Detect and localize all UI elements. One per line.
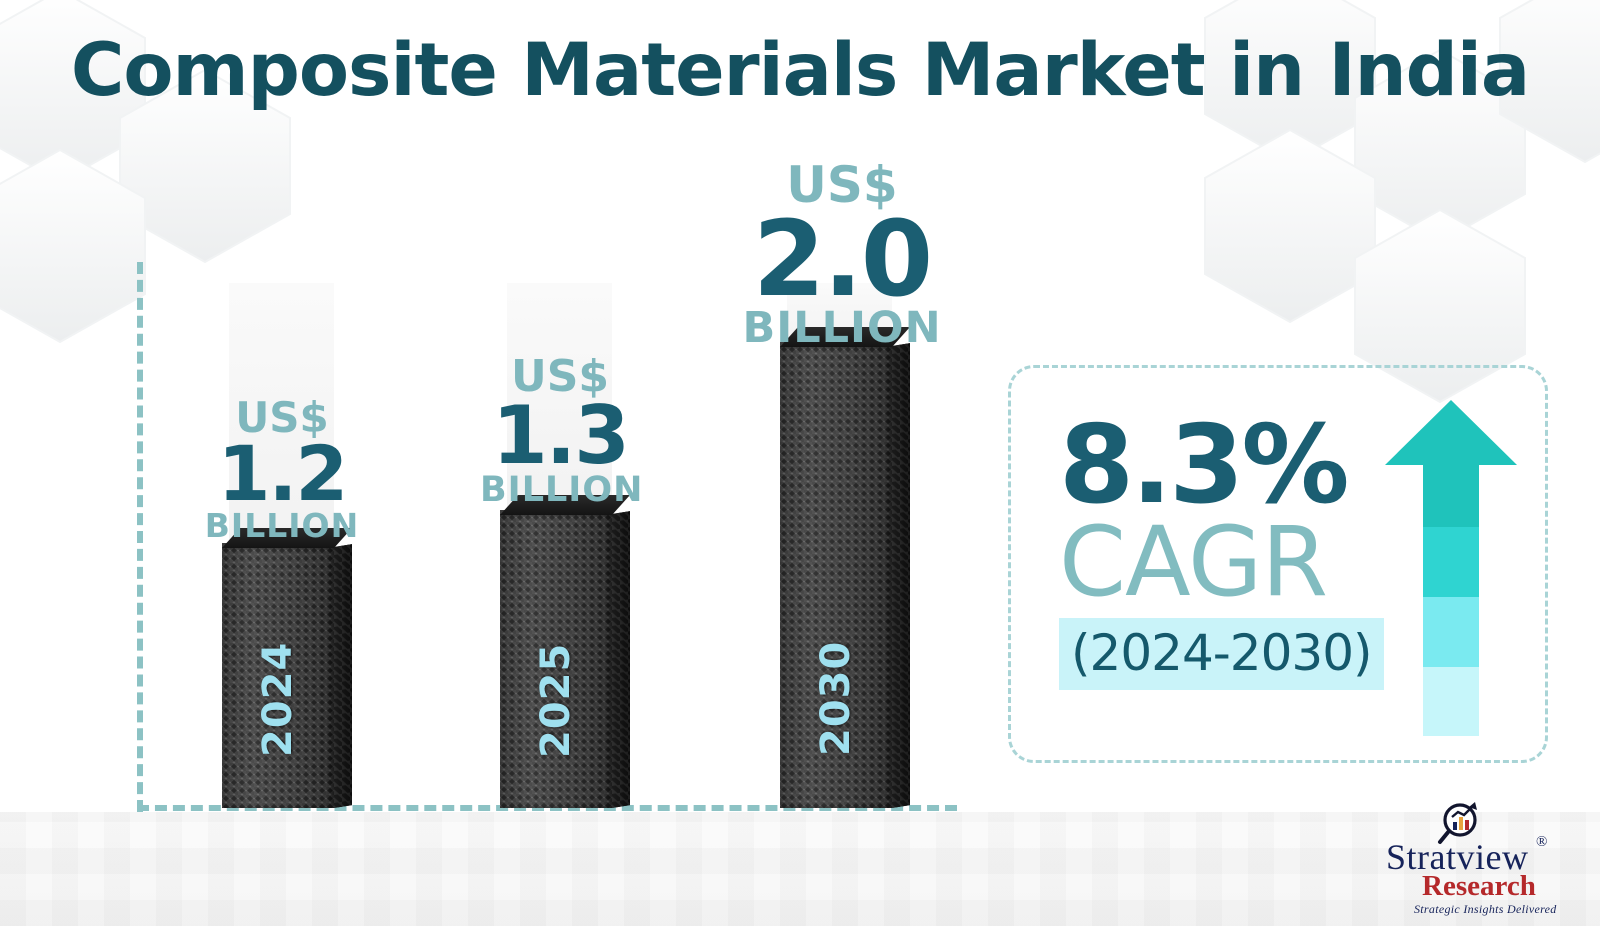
bar-value-label-2025: US$ 1.3 BILLION <box>480 356 640 507</box>
bar-side-face-2025 <box>612 511 630 808</box>
bar-year-label-2025: 2025 <box>500 610 612 790</box>
stratview-research-logo: Stratview ® Research Strategic Insights … <box>1378 804 1578 916</box>
cagr-label: CAGR <box>1059 514 1369 612</box>
cagr-percent: 8.3% <box>1059 412 1369 520</box>
bar-side-face-2030 <box>892 343 910 808</box>
bar-2024: 2024 <box>222 547 334 808</box>
bar-year-label-2030: 2030 <box>780 608 892 788</box>
bar-year-label-2024: 2024 <box>222 609 334 789</box>
cagr-panel: 8.3% CAGR (2024-2030) <box>1008 365 1548 763</box>
bar-value-2024: 1.2 <box>202 438 362 510</box>
bar-front-face-2030: 2030 <box>780 346 892 808</box>
floor-texture <box>0 812 1600 926</box>
bar-side-face-2024 <box>334 544 352 808</box>
bar-unit-2030: BILLION <box>742 308 942 349</box>
bar-unit-2025: BILLION <box>480 474 640 507</box>
logo-subname: Research <box>1422 870 1536 903</box>
y-axis-dashed-line <box>137 262 143 812</box>
up-arrow-icon <box>1381 396 1521 736</box>
bar-value-2030: 2.0 <box>742 210 942 309</box>
bar-value-2025: 1.3 <box>480 398 640 474</box>
bar-value-label-2024: US$ 1.2 BILLION <box>202 398 362 541</box>
cagr-period: (2024-2030) <box>1059 618 1384 690</box>
bar-front-face-2024: 2024 <box>222 547 334 808</box>
bar-2030: 2030 <box>780 346 892 808</box>
logo-registered-mark: ® <box>1536 834 1547 851</box>
bar-2025: 2025 <box>500 514 612 808</box>
bar-front-face-2025: 2025 <box>500 514 612 808</box>
logo-tagline: Strategic Insights Delivered <box>1414 902 1557 917</box>
bar-value-label-2030: US$ 2.0 BILLION <box>742 162 942 349</box>
cagr-text-block: 8.3% CAGR (2024-2030) <box>1059 412 1369 690</box>
bar-unit-2024: BILLION <box>202 510 362 541</box>
page-title: Composite Materials Market in India <box>0 28 1600 113</box>
